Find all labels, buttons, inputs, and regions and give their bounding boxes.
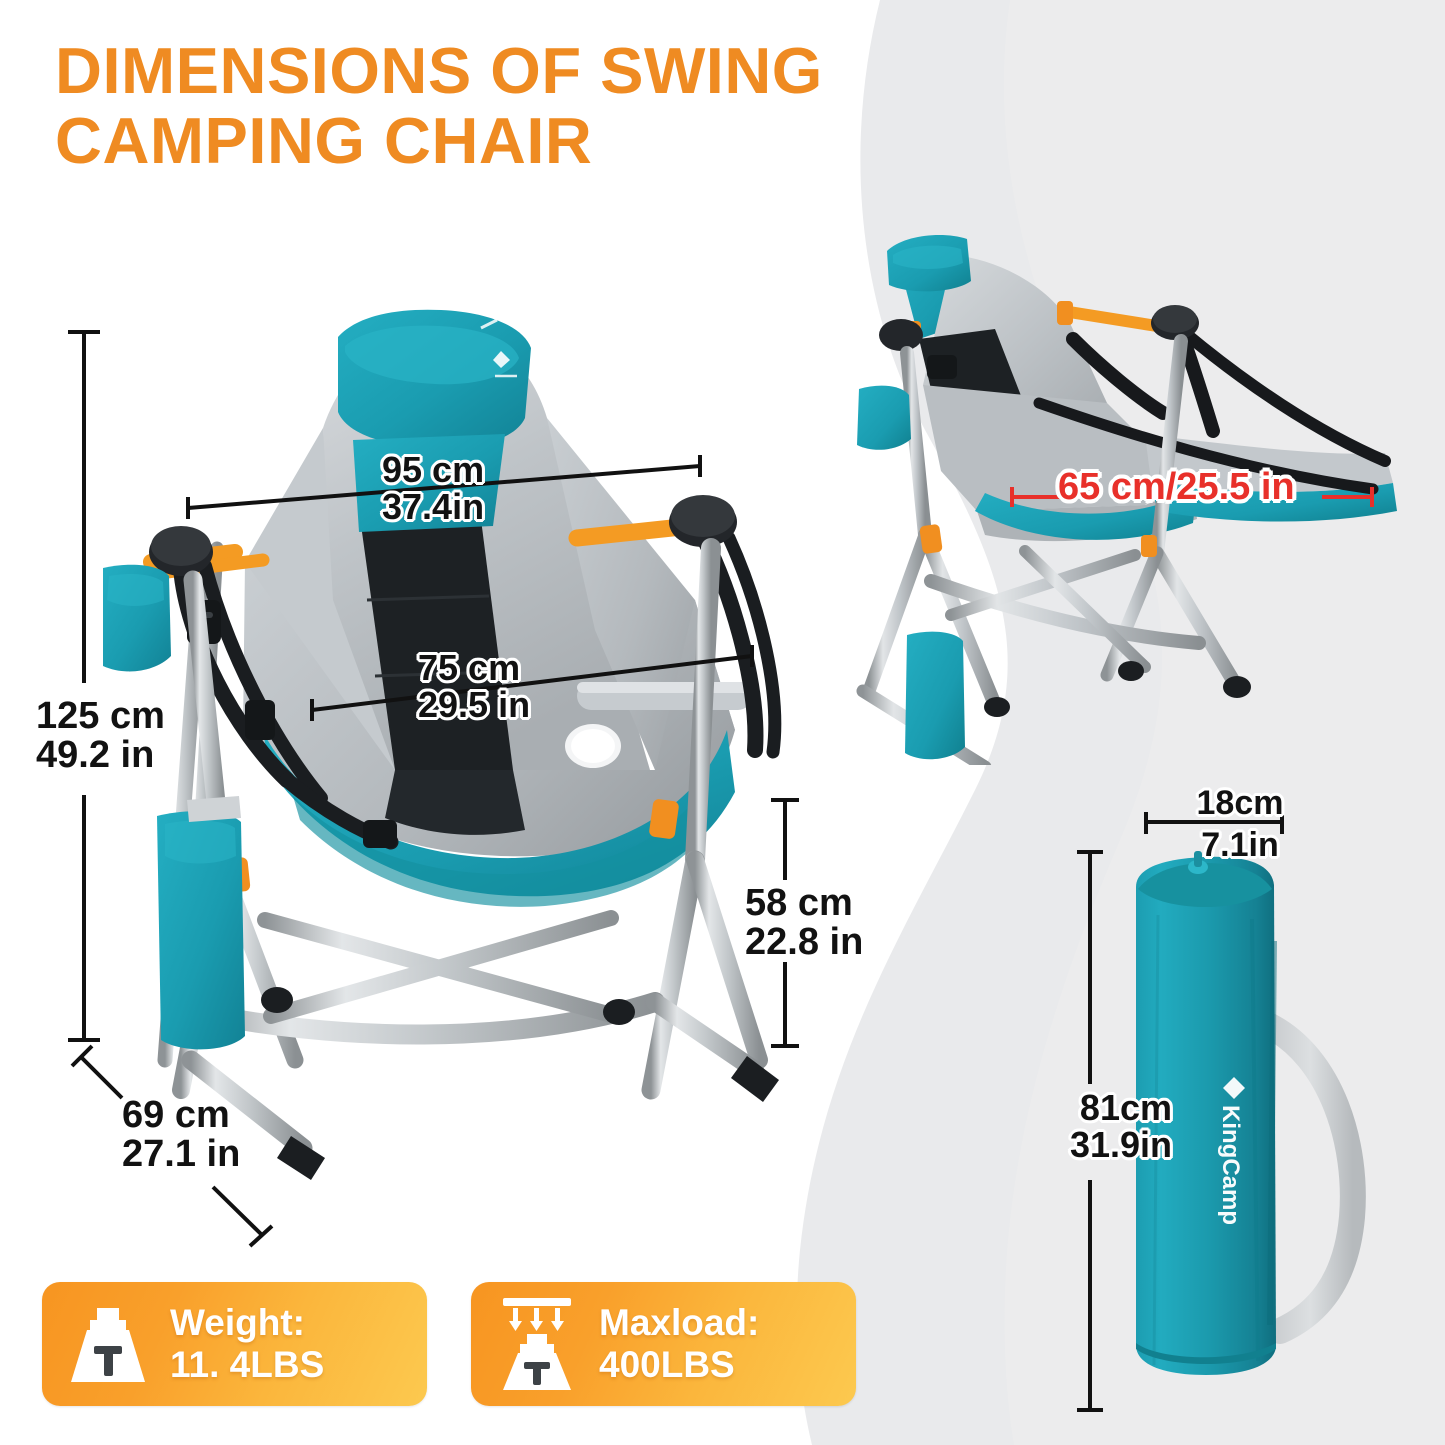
dimension-bag-width-18cm: 18cm <box>1175 786 1305 821</box>
reclined-dimension-line <box>0 0 1445 1445</box>
dimension-seat-height-58cm: 58 cm 22.8 in <box>745 884 863 962</box>
dimension-bag-width-in: 7.1in <box>1175 828 1305 863</box>
badge-maxload-label: Maxload: <box>599 1302 759 1344</box>
badge-weight-text: Weight: 11. 4LBS <box>170 1302 324 1386</box>
badge-weight-value: 11. 4LBS <box>170 1344 324 1386</box>
dimension-height-125cm: 125 cm 49.2 in <box>36 697 165 775</box>
dimension-depth-69cm: 69 cm 27.1 in <box>122 1096 240 1174</box>
dimension-bag-height-81cm: 81cm 31.9in <box>1052 1090 1172 1163</box>
badge-maxload: Maxload: 400LBS <box>471 1282 856 1406</box>
dimension-width-95cm: 95 cm 37.4in <box>382 452 484 525</box>
badge-weight-label: Weight: <box>170 1302 324 1344</box>
weight-icon <box>60 1294 156 1394</box>
badge-maxload-text: Maxload: 400LBS <box>599 1302 759 1386</box>
badge-maxload-value: 400LBS <box>599 1344 759 1386</box>
badge-weight: Weight: 11. 4LBS <box>42 1282 427 1406</box>
infographic-canvas: DIMENSIONS OF SWING CAMPING CHAIR <box>0 0 1445 1445</box>
dimension-recline-65cm: 65 cm/25.5 in <box>1058 468 1295 507</box>
dimension-seat-width-75cm: 75 cm 29.5 in <box>418 650 530 723</box>
spec-badges: Weight: 11. 4LBS <box>42 1282 856 1406</box>
maxload-weight-icon <box>489 1294 585 1394</box>
